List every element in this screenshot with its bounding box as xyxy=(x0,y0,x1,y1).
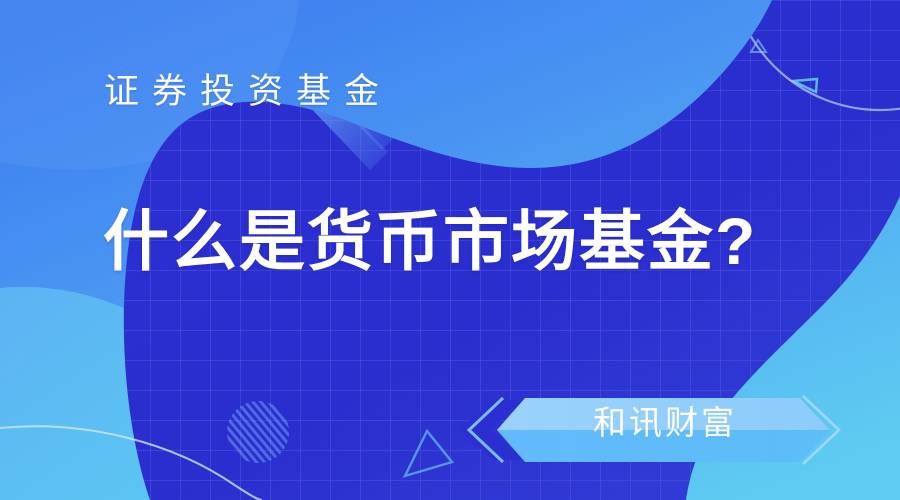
brand-badge-label: 和讯财富 xyxy=(565,406,765,439)
subtitle-text: 证券投资基金 xyxy=(104,74,392,109)
poster-canvas: 证券投资基金 什么是货币市场基金? 和讯财富 xyxy=(0,0,900,500)
striped-circle xyxy=(227,401,289,463)
page-title: 什么是货币市场基金? xyxy=(103,208,757,274)
triangle-outline-left xyxy=(56,148,96,196)
